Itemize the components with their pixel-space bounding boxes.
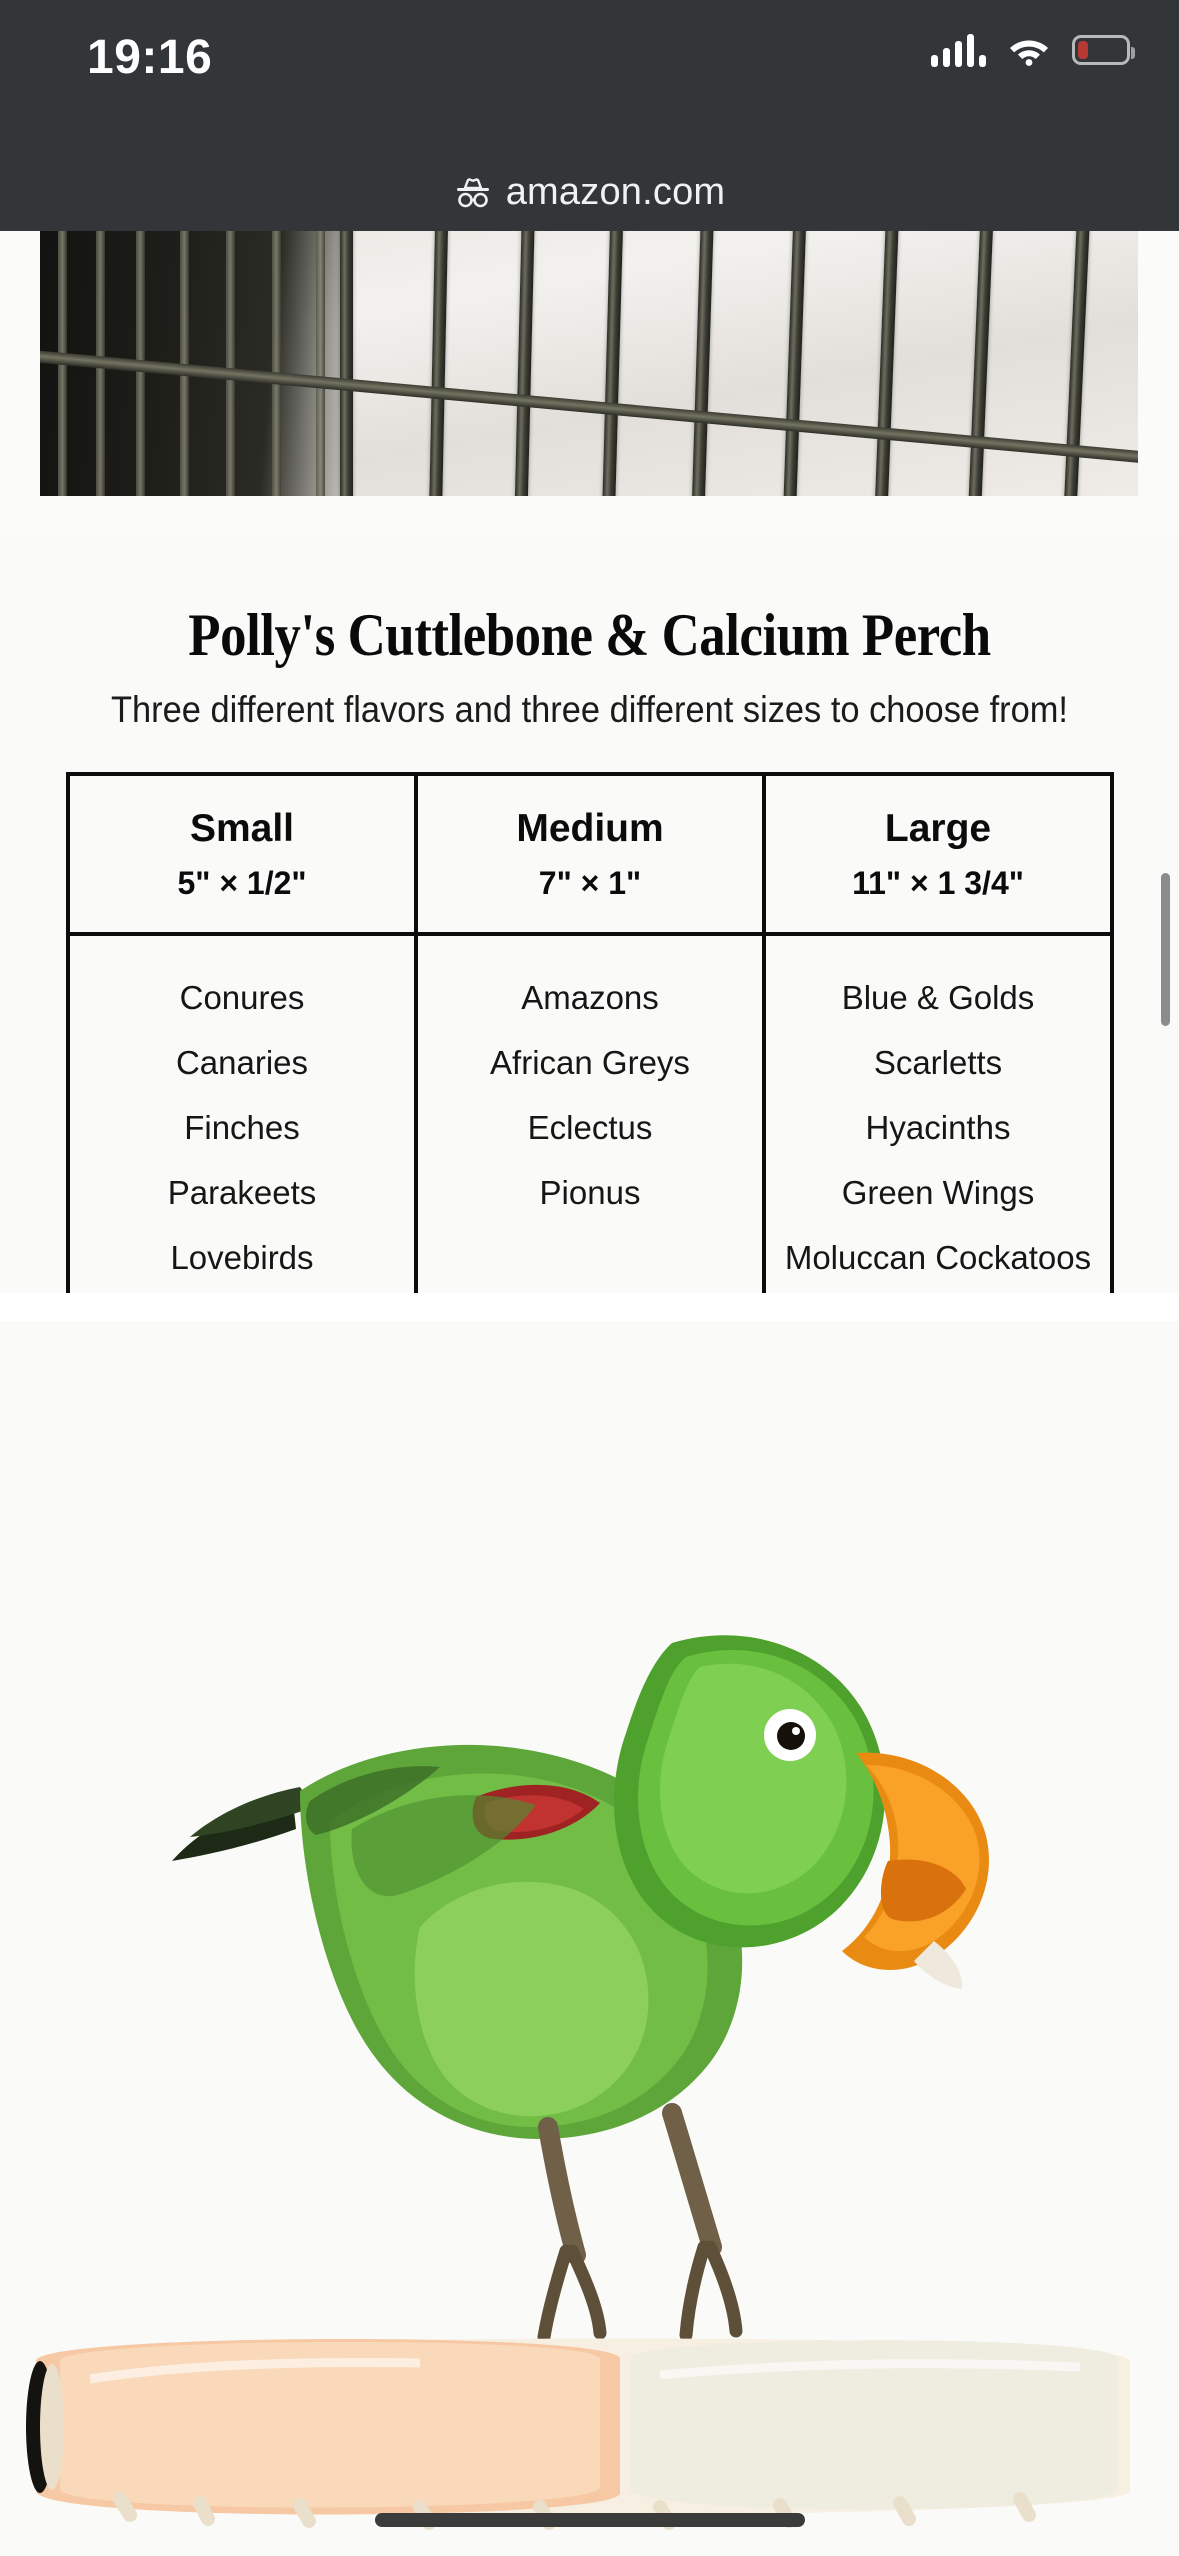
page-content: Polly's Cuttlebone & Calcium Perch Three… bbox=[0, 231, 1179, 2556]
status-bar-clock: 19:16 bbox=[87, 30, 212, 85]
phone-screen: 19:16 bbox=[0, 0, 1179, 2556]
breed-item: Eclectus bbox=[528, 1096, 653, 1160]
breed-item: Amazons bbox=[521, 966, 659, 1030]
url-bar[interactable]: amazon.com bbox=[0, 160, 1179, 224]
parrot-image-block bbox=[0, 1321, 1179, 2556]
section-divider bbox=[0, 1293, 1179, 1321]
cellular-signal-icon bbox=[931, 33, 986, 67]
column-header-medium: Medium 7" × 1" bbox=[418, 776, 762, 936]
status-bar-icons bbox=[931, 33, 1130, 67]
browser-chrome: 19:16 bbox=[0, 0, 1179, 231]
breed-item: Scarletts bbox=[874, 1031, 1002, 1095]
breed-item: Finches bbox=[184, 1096, 300, 1160]
home-indicator[interactable] bbox=[375, 2513, 805, 2527]
breed-item: Conures bbox=[180, 966, 305, 1030]
size-dimensions: 11" × 1 3/4" bbox=[852, 865, 1024, 902]
breed-item: Green Wings bbox=[842, 1161, 1035, 1225]
size-label: Small bbox=[190, 807, 294, 851]
size-label: Large bbox=[885, 807, 991, 851]
green-parrot-photo bbox=[0, 1321, 1179, 2556]
wifi-icon bbox=[1008, 34, 1050, 66]
battery-low-icon bbox=[1072, 35, 1130, 65]
breed-item: Moluccan Cockatoos bbox=[785, 1226, 1091, 1290]
product-subtitle: Three different flavors and three differ… bbox=[41, 686, 1137, 735]
cage-image-block bbox=[0, 231, 1179, 531]
breed-item: African Greys bbox=[490, 1031, 690, 1095]
breed-item: Blue & Golds bbox=[842, 966, 1035, 1030]
size-dimensions: 7" × 1" bbox=[539, 865, 641, 902]
product-title: Polly's Cuttlebone & Calcium Perch bbox=[71, 601, 1109, 670]
breed-item: Canaries bbox=[176, 1031, 308, 1095]
column-header-large: Large 11" × 1 3/4" bbox=[766, 776, 1110, 936]
breed-item: Parakeets bbox=[168, 1161, 317, 1225]
breed-item: Lovebirds bbox=[170, 1226, 313, 1290]
infographic-block: Polly's Cuttlebone & Calcium Perch Three… bbox=[0, 531, 1179, 1293]
breed-item: Pionus bbox=[540, 1161, 641, 1225]
size-dimensions: 5" × 1/2" bbox=[177, 865, 306, 902]
breed-item: Hyacinths bbox=[866, 1096, 1011, 1160]
incognito-icon bbox=[454, 175, 492, 209]
status-bar: 19:16 bbox=[0, 0, 1179, 96]
page-scrollbar[interactable] bbox=[1161, 873, 1170, 1026]
url-text: amazon.com bbox=[506, 171, 726, 214]
bird-cage-photo bbox=[40, 231, 1138, 496]
column-header-small: Small 5" × 1/2" bbox=[70, 776, 414, 936]
size-label: Medium bbox=[516, 807, 663, 851]
